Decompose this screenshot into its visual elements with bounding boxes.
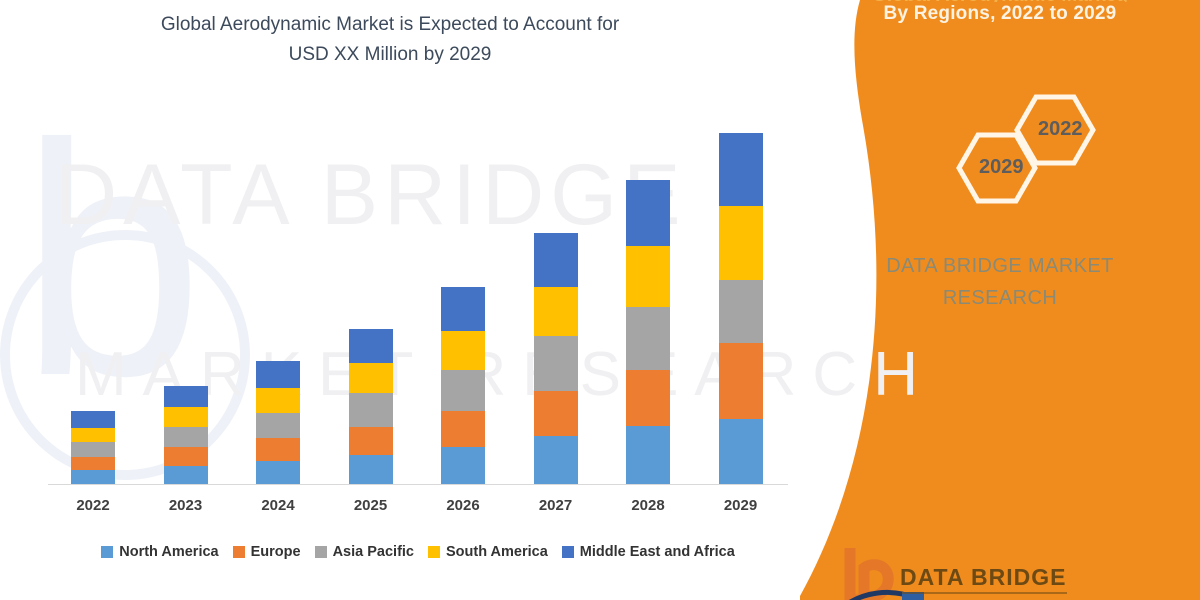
bar-segment-asia-pacific <box>719 280 763 344</box>
legend-item[interactable]: North America <box>101 544 218 560</box>
bar-column <box>418 287 508 485</box>
legend-swatch-icon <box>233 546 245 558</box>
x-axis-label-2028: 2028 <box>603 497 693 514</box>
x-axis-labels: 20222023202420252026202720282029 <box>48 497 788 525</box>
x-axis-label-2026: 2026 <box>418 497 508 514</box>
brand-name: DATA BRIDGE MARKET RESEARCH <box>800 250 1200 314</box>
bar-segment-asia-pacific <box>256 413 300 439</box>
brand-name-line-2: RESEARCH <box>800 282 1200 314</box>
x-axis-label-2025: 2025 <box>326 497 416 514</box>
bar-segment-north-america <box>71 470 115 485</box>
stacked-bar-2024 <box>256 361 300 485</box>
footer-logo-underline <box>902 592 1067 594</box>
legend-label: North America <box>119 544 218 560</box>
legend-item[interactable]: Middle East and Africa <box>562 544 735 560</box>
x-axis-label-2024: 2024 <box>233 497 323 514</box>
bar-segment-asia-pacific <box>164 427 208 448</box>
bar-segment-europe <box>164 447 208 465</box>
bar-column <box>696 133 786 485</box>
chart-title: Global Aerodynamic Market is Expected to… <box>70 10 710 70</box>
hexagon-label-2029: 2029 <box>979 156 1024 179</box>
legend-swatch-icon <box>562 546 574 558</box>
bar-segment-south-america <box>534 287 578 337</box>
x-axis-label-2029: 2029 <box>696 497 786 514</box>
plot-area <box>48 120 788 485</box>
bar-segment-asia-pacific <box>71 442 115 457</box>
bar-segment-europe <box>534 391 578 437</box>
bar-segment-asia-pacific <box>534 336 578 390</box>
bar-segment-north-america <box>349 455 393 485</box>
bar-segment-north-america <box>534 436 578 485</box>
legend-label: South America <box>446 544 548 560</box>
bar-segment-middle-east-and-africa <box>534 233 578 287</box>
bar-column <box>141 386 231 485</box>
bar-segment-north-america <box>164 466 208 485</box>
bar-segment-south-america <box>441 331 485 370</box>
bar-segment-north-america <box>719 419 763 485</box>
panel-heading: By Regions, 2022 to 2029 <box>800 2 1200 26</box>
bar-column <box>326 329 416 485</box>
chart-legend: North AmericaEuropeAsia PacificSouth Ame… <box>48 540 788 564</box>
legend-label: Middle East and Africa <box>580 544 735 560</box>
bar-segment-asia-pacific <box>626 307 670 371</box>
legend-swatch-icon <box>101 546 113 558</box>
bar-segment-north-america <box>626 426 670 485</box>
bar-segment-middle-east-and-africa <box>256 361 300 388</box>
bar-segment-europe <box>441 411 485 447</box>
bar-segment-south-america <box>349 363 393 394</box>
x-axis-label-2022: 2022 <box>48 497 138 514</box>
bar-segment-south-america <box>164 407 208 426</box>
stacked-bar-2025 <box>349 329 393 485</box>
bar-segment-middle-east-and-africa <box>164 386 208 408</box>
stacked-bar-2026 <box>441 287 485 485</box>
x-axis-line <box>48 484 788 485</box>
bar-segment-north-america <box>256 461 300 485</box>
bar-segment-south-america <box>256 388 300 412</box>
stacked-bar-2023 <box>164 386 208 485</box>
bar-column <box>233 361 323 485</box>
bar-segment-middle-east-and-africa <box>626 180 670 246</box>
legend-swatch-icon <box>428 546 440 558</box>
stacked-bar-2029 <box>719 133 763 485</box>
brand-name-line-1: DATA BRIDGE MARKET <box>800 250 1200 282</box>
legend-item[interactable]: Asia Pacific <box>315 544 414 560</box>
footer-logo-text: DATA BRIDGE <box>900 564 1066 591</box>
legend-label: Asia Pacific <box>333 544 414 560</box>
chart-title-line-2: USD XX Million by 2029 <box>70 40 710 70</box>
legend-item[interactable]: Europe <box>233 544 301 560</box>
chart-region: b DATA BRIDGE MARKET RESEARCH Global Aer… <box>0 0 830 600</box>
legend-item[interactable]: South America <box>428 544 548 560</box>
bar-segment-europe <box>256 438 300 461</box>
x-axis-label-2023: 2023 <box>141 497 231 514</box>
bar-column <box>511 233 601 485</box>
stacked-bar-2027 <box>534 233 578 485</box>
bar-segment-europe <box>71 457 115 470</box>
legend-label: Europe <box>251 544 301 560</box>
bar-segment-asia-pacific <box>349 393 393 426</box>
hexagon-group: 2022 2029 <box>800 92 1200 217</box>
x-axis-label-2027: 2027 <box>511 497 601 514</box>
bar-segment-asia-pacific <box>441 370 485 412</box>
bar-segment-south-america <box>626 246 670 307</box>
bar-segment-middle-east-and-africa <box>719 133 763 207</box>
bar-segment-north-america <box>441 447 485 485</box>
bar-segment-middle-east-and-africa <box>349 329 393 363</box>
infographic-root: b DATA BRIDGE MARKET RESEARCH Global Aer… <box>0 0 1200 600</box>
bar-column <box>603 180 693 485</box>
bar-segment-south-america <box>71 428 115 442</box>
hexagon-outlines-icon <box>800 92 1200 217</box>
bar-segment-middle-east-and-africa <box>71 411 115 427</box>
stacked-bar-2028 <box>626 180 670 485</box>
bar-segment-south-america <box>719 206 763 280</box>
brand-panel: Global Aerodynamic Market, By Regions, 2… <box>800 0 1200 600</box>
bar-segment-middle-east-and-africa <box>441 287 485 332</box>
chart-title-line-1: Global Aerodynamic Market is Expected to… <box>70 10 710 40</box>
bar-segment-europe <box>719 343 763 418</box>
footer-logo: DATA BRIDGE <box>842 548 1182 600</box>
hexagon-label-2022: 2022 <box>1038 118 1083 141</box>
bar-column <box>48 411 138 485</box>
bar-segment-europe <box>349 427 393 456</box>
stacked-bar-2022 <box>71 411 115 485</box>
legend-swatch-icon <box>315 546 327 558</box>
bar-segment-europe <box>626 370 670 426</box>
